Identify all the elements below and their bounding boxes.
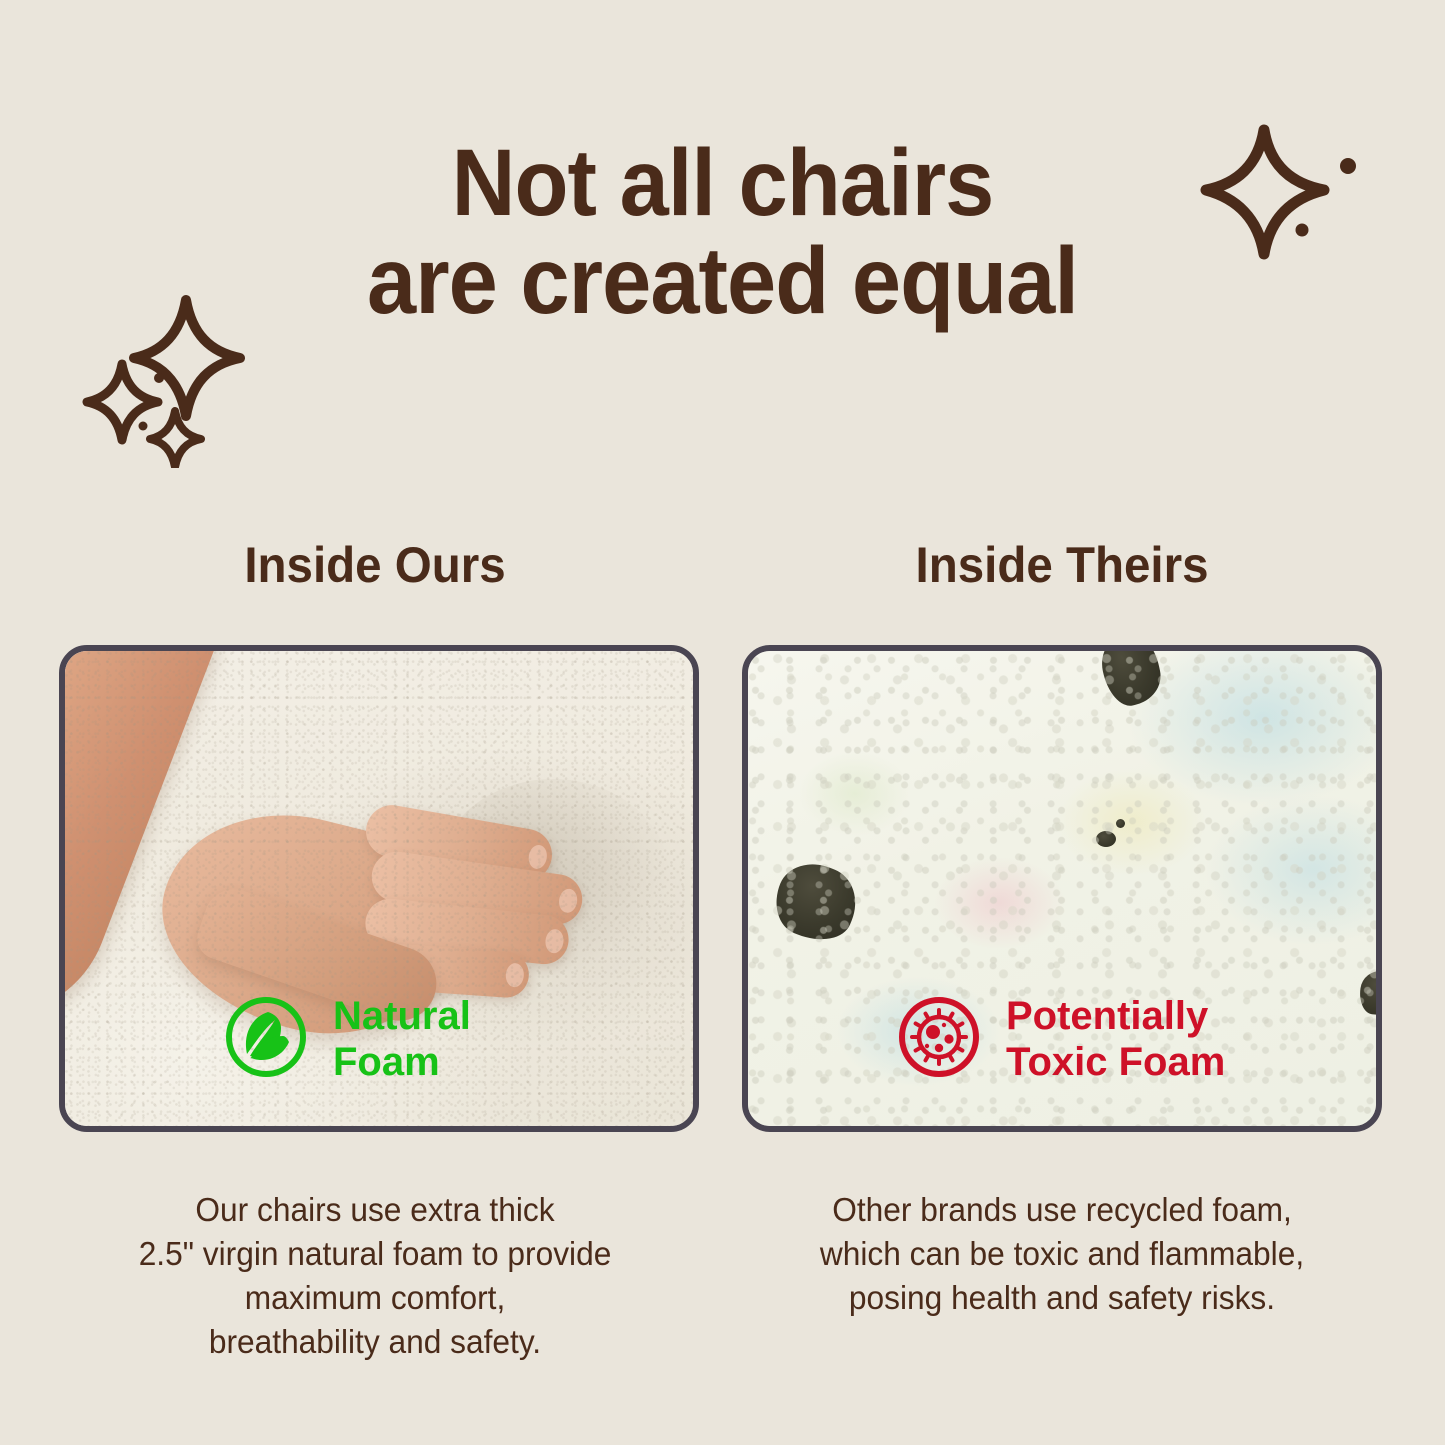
- headline-line-1: Not all chairs: [51, 134, 1395, 232]
- headline-line-2: are created equal: [51, 232, 1395, 330]
- finger-shape: [362, 801, 556, 885]
- page-title: Not all chairs are created equal: [51, 134, 1395, 330]
- finger-shape: [369, 848, 586, 927]
- caption-ours: Our chairs use extra thick 2.5" virgin n…: [68, 1188, 682, 1364]
- column-heading-ours: Inside Ours: [71, 537, 679, 593]
- arm-shape: [59, 645, 233, 1039]
- finger-shape: [363, 896, 571, 966]
- natural-foam-badge: Natural Foam: [223, 993, 471, 1085]
- toxic-foam-badge: Potentially Toxic Foam: [896, 993, 1225, 1085]
- leaf-icon: [223, 994, 309, 1085]
- caption-theirs: Other brands use recycled foam, which ca…: [755, 1188, 1369, 1320]
- germ-icon: [896, 994, 982, 1085]
- toxic-foam-label: Potentially Toxic Foam: [1006, 993, 1225, 1085]
- column-heading-theirs: Inside Theirs: [758, 537, 1366, 593]
- finger-shape: [352, 941, 531, 999]
- foam-debris-blob: [1116, 819, 1125, 828]
- foam-debris-blob: [1096, 831, 1116, 847]
- foam-dimple: [437, 779, 669, 975]
- photo-card-theirs: Potentially Toxic Foam: [742, 645, 1382, 1132]
- foam-debris-blob: [1096, 645, 1166, 710]
- foam-debris-blob: [765, 853, 867, 952]
- foam-debris-blob: [1357, 969, 1382, 1018]
- photo-card-ours: Natural Foam: [59, 645, 699, 1132]
- natural-foam-label: Natural Foam: [333, 993, 471, 1085]
